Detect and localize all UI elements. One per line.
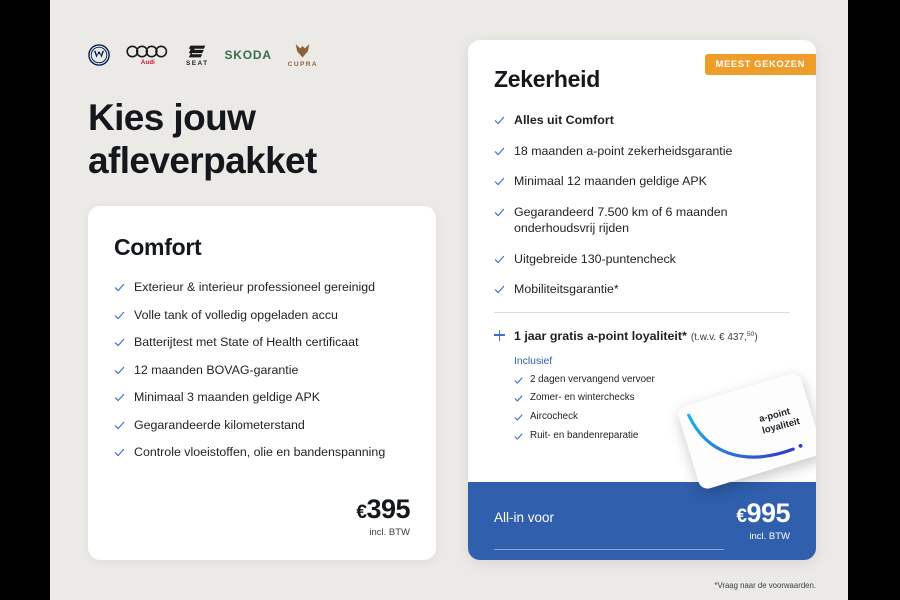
cupra-wordmark: CUPRA [288,61,318,68]
comfort-price-amount: €395 [356,496,410,523]
comfort-feature-label: Minimaal 3 maanden geldige APK [134,389,320,406]
included-item-label: Aircocheck [530,411,578,424]
footer-label: All-in voor [494,510,554,525]
check-icon [514,376,523,385]
check-icon [114,420,125,431]
package-card-zekerheid[interactable]: MEEST GEKOZEN Zekerheid Alles uit Comfor… [468,40,816,560]
zekerheid-feature: Mobiliteitsgarantie* [494,281,790,298]
check-icon [114,447,125,458]
zekerheid-feature: Gegarandeerd 7.500 km of 6 maanden onder… [494,204,790,237]
zekerheid-feature-label: Mobiliteitsgarantie* [514,281,619,298]
check-icon [494,176,505,187]
check-icon [514,413,523,422]
comfort-feature: Exterieur & interieur professioneel gere… [114,279,410,296]
included-item: Zomer- en winterchecks [514,392,790,405]
check-icon [114,337,125,348]
included-list: 2 dagen vervangend vervoer Zomer- en win… [514,374,790,443]
included-item: Aircocheck [514,411,790,424]
footer-price-note: incl. BTW [736,531,790,542]
page-title-line2: afleverpakket [88,140,317,183]
zekerheid-feature-label: Minimaal 12 maanden geldige APK [514,173,707,190]
zekerheid-feature-label: Uitgebreide 130-puntencheck [514,251,676,268]
audi-wordmark: Audi [141,60,155,66]
volkswagen-logo [88,44,110,66]
zekerheid-body: Zekerheid Alles uit Comfort 18 maanden a… [468,40,816,442]
zekerheid-footer: All-in voor €995 incl. BTW [468,482,816,560]
footnote: *Vraag naar de voorwaarden. [714,581,816,590]
comfort-price: €395 incl. BTW [356,496,410,538]
euro-symbol: € [356,502,366,523]
comfort-feature: Gegarandeerde kilometerstand [114,417,410,434]
zekerheid-feature: Uitgebreide 130-puntencheck [494,251,790,268]
check-icon [114,392,125,403]
footer-price-amount: €995 [736,500,790,527]
comfort-feature: Minimaal 3 maanden geldige APK [114,389,410,406]
footer-rule [494,549,724,550]
check-icon [494,254,505,265]
euro-symbol: € [736,506,746,527]
skoda-logo: SKODA [224,48,271,62]
zekerheid-feature-label: Alles uit Comfort [514,112,614,129]
loyalty-value: (t.w.v. € 437,50) [691,332,758,343]
package-card-comfort[interactable]: Comfort Exterieur & interieur profession… [88,206,436,560]
plus-icon [494,330,505,341]
comfort-price-value: 395 [366,494,410,524]
comfort-feature: Batterijtest met State of Health certifi… [114,334,410,351]
seat-wordmark: SEAT [186,60,208,67]
page-title-line1: Kies jouw [88,97,317,140]
audi-logo: Audi [126,44,170,66]
page-title: Kies jouw afleverpakket [88,97,317,183]
comfort-feature-label: Volle tank of volledig opgeladen accu [134,307,338,324]
check-icon [494,284,505,295]
footer-price-value: 995 [746,498,790,528]
status-badge: MEEST GEKOZEN [705,54,817,75]
comfort-feature: Controle vloeistoffen, olie en bandenspa… [114,444,410,461]
comfort-feature-label: Controle vloeistoffen, olie en bandenspa… [134,444,385,461]
comfort-feature-label: 12 maanden BOVAG-garantie [134,362,298,379]
check-icon [114,365,125,376]
loyalty-title: 1 jaar gratis a-point loyaliteit* [514,329,687,343]
zekerheid-feature: 18 maanden a-point zekerheidsgarantie [494,143,790,160]
zekerheid-feature: Minimaal 12 maanden geldige APK [494,173,790,190]
included-item: 2 dagen vervangend vervoer [514,374,790,387]
check-icon [114,310,125,321]
cupra-logo: CUPRA [288,43,318,68]
included-item-label: Zomer- en winterchecks [530,392,635,405]
skoda-wordmark: SKODA [224,48,271,62]
comfort-price-note: incl. BTW [356,527,410,538]
check-icon [514,432,523,441]
check-icon [494,115,505,126]
comfort-feature: Volle tank of volledig opgeladen accu [114,307,410,324]
brand-logo-strip: Audi SEAT SKODA CUPRA [88,38,318,72]
comfort-title: Comfort [114,234,410,261]
comfort-feature-label: Gegarandeerde kilometerstand [134,417,305,434]
included-label: Inclusief [514,356,790,367]
check-icon [494,207,505,218]
footer-price: €995 incl. BTW [736,500,790,542]
check-icon [114,282,125,293]
comfort-feature: 12 maanden BOVAG-garantie [114,362,410,379]
section-divider [494,312,790,313]
loyalty-value-suffix: ) [754,332,757,343]
included-item-label: Ruit- en bandenreparatie [530,430,638,443]
zekerheid-feature: Alles uit Comfort [494,112,790,129]
screenshot-root: Audi SEAT SKODA CUPRA Kies jouw afleverp… [0,0,900,600]
comfort-feature-label: Batterijtest met State of Health certifi… [134,334,359,351]
included-item-label: 2 dagen vervangend vervoer [530,374,655,387]
loyalty-row: 1 jaar gratis a-point loyaliteit*(t.w.v.… [494,327,790,345]
comfort-feature-label: Exterieur & interieur professioneel gere… [134,279,375,296]
check-icon [494,146,505,157]
check-icon [514,394,523,403]
seat-logo: SEAT [186,44,208,67]
ad-canvas: Audi SEAT SKODA CUPRA Kies jouw afleverp… [50,0,848,600]
footer-price-row: All-in voor €995 incl. BTW [494,500,790,542]
loyalty-value-prefix: (t.w.v. € 437, [691,332,747,343]
included-item: Ruit- en bandenreparatie [514,430,790,443]
zekerheid-feature-label: Gegarandeerd 7.500 km of 6 maanden onder… [514,204,790,237]
zekerheid-feature-label: 18 maanden a-point zekerheidsgarantie [514,143,732,160]
